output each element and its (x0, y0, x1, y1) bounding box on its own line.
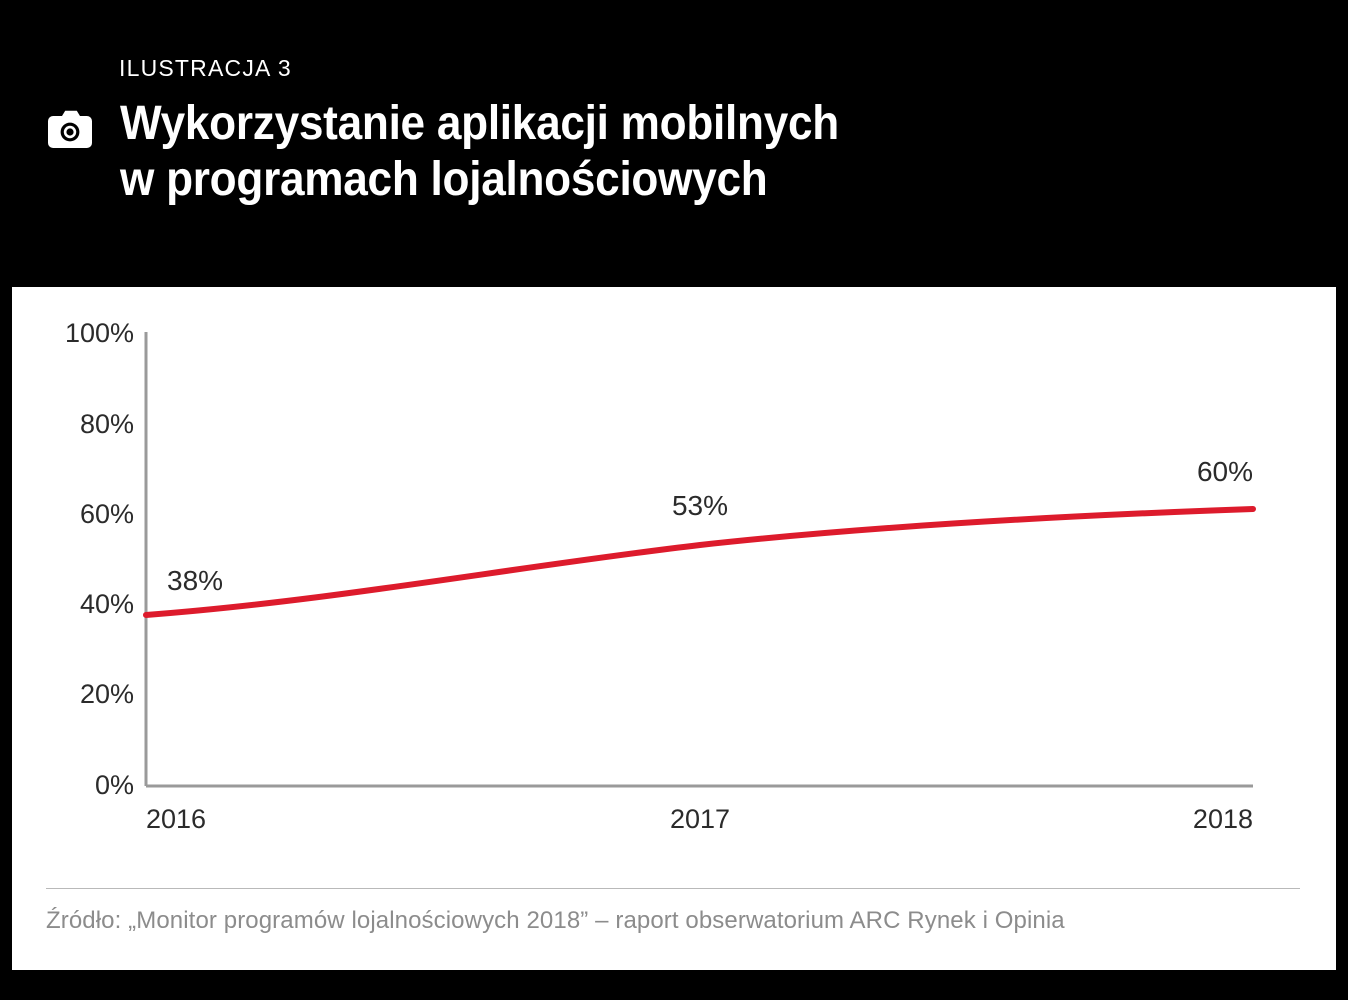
figure-title: Wykorzystanie aplikacji mobilnych w prog… (120, 96, 839, 208)
line-chart: 100% 80% 60% 40% 20% 0% 38% 53% 60% (12, 287, 1336, 847)
x-tick-2016: 2016 (146, 804, 206, 834)
header-banner: ILUSTRACJA 3 Wykorzystanie aplikacji mob… (0, 0, 1348, 287)
data-label-2018: 60% (1197, 456, 1253, 487)
y-tick-100: 100% (65, 318, 134, 348)
y-tick-40: 40% (80, 589, 134, 619)
y-tick-0: 0% (95, 770, 134, 800)
data-label-2017: 53% (672, 490, 728, 521)
x-axis-tick-labels: 2016 2017 2018 (146, 804, 1253, 834)
illustration-card: ILUSTRACJA 3 Wykorzystanie aplikacji mob… (0, 0, 1348, 1000)
camera-icon (46, 108, 94, 150)
x-tick-2017: 2017 (670, 804, 730, 834)
data-series-line (146, 509, 1253, 615)
y-tick-60: 60% (80, 499, 134, 529)
source-note: Źródło: „Monitor programów lojalnościowy… (46, 907, 1306, 935)
figure-title-line-2: w programach lojalnościowych (120, 152, 839, 208)
x-tick-2018: 2018 (1193, 804, 1253, 834)
y-tick-80: 80% (80, 409, 134, 439)
figure-kicker: ILUSTRACJA 3 (119, 55, 292, 82)
chart-card: 100% 80% 60% 40% 20% 0% 38% 53% 60% (12, 287, 1336, 970)
data-label-2016: 38% (167, 565, 223, 596)
y-axis-tick-labels: 100% 80% 60% 40% 20% 0% (65, 318, 134, 800)
footer-divider (46, 888, 1300, 889)
figure-title-line-1: Wykorzystanie aplikacji mobilnych (120, 96, 839, 152)
y-tick-20: 20% (80, 679, 134, 709)
